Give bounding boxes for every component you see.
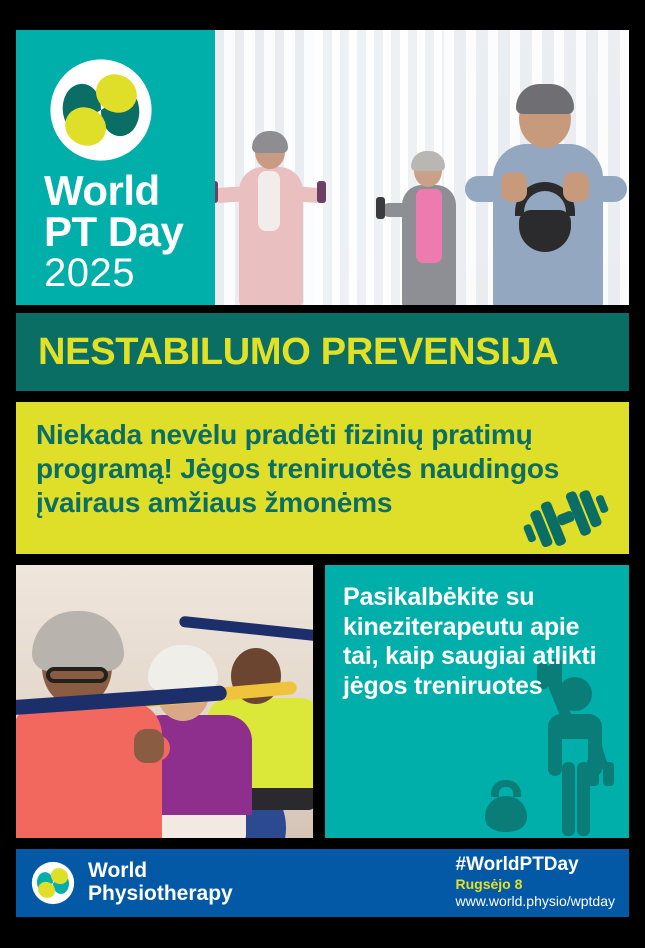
logo-year: 2025	[44, 252, 183, 294]
world-pt-day-wordmark: World PT Day 2025	[44, 170, 183, 294]
logo-line-world: World	[44, 170, 183, 211]
photo-seniors-with-weights	[215, 30, 629, 305]
person-middle-with-dumbbell	[390, 155, 468, 305]
dumbbell-icon	[515, 490, 615, 548]
organisation-name: World Physiotherapy	[88, 860, 233, 905]
campaign-url[interactable]: www.world.physio/wptday	[455, 893, 615, 911]
logo-panel: World PT Day 2025	[16, 30, 215, 305]
message-panel: Niekada nevėlu pradėti fizinių pratimų p…	[16, 402, 629, 554]
headline-bar: NESTABILUMO PREVENSIJA	[16, 313, 629, 391]
person-front-coral-top	[16, 623, 171, 838]
callout-text: Pasikalbėkite su kineziterapeutu apie ta…	[325, 565, 629, 701]
world-pt-day-logo-icon	[46, 55, 156, 165]
footer-bar: World Physiotherapy #WorldPTDay Rugsėjo …	[16, 849, 629, 917]
logo-line-ptday: PT Day	[44, 211, 183, 252]
person-left-with-dumbbells	[225, 135, 317, 305]
org-line-physiotherapy: Physiotherapy	[88, 883, 233, 906]
poster-root: World PT Day 2025	[0, 0, 645, 948]
photo-seniors-resistance-bands	[16, 565, 313, 838]
world-physiotherapy-logo-icon	[30, 860, 76, 906]
campaign-hashtag: #WorldPTDay	[455, 855, 615, 876]
org-line-world: World	[88, 860, 233, 883]
footer-campaign-info: #WorldPTDay Rugsėjo 8 www.world.physio/w…	[455, 855, 615, 911]
callout-panel: Pasikalbėkite su kineziterapeutu apie ta…	[325, 565, 629, 838]
person-right-with-kettlebell	[471, 90, 621, 305]
campaign-date: Rugsėjo 8	[455, 876, 615, 894]
top-band: World PT Day 2025	[16, 30, 629, 305]
page-title: NESTABILUMO PREVENSIJA	[16, 333, 559, 371]
